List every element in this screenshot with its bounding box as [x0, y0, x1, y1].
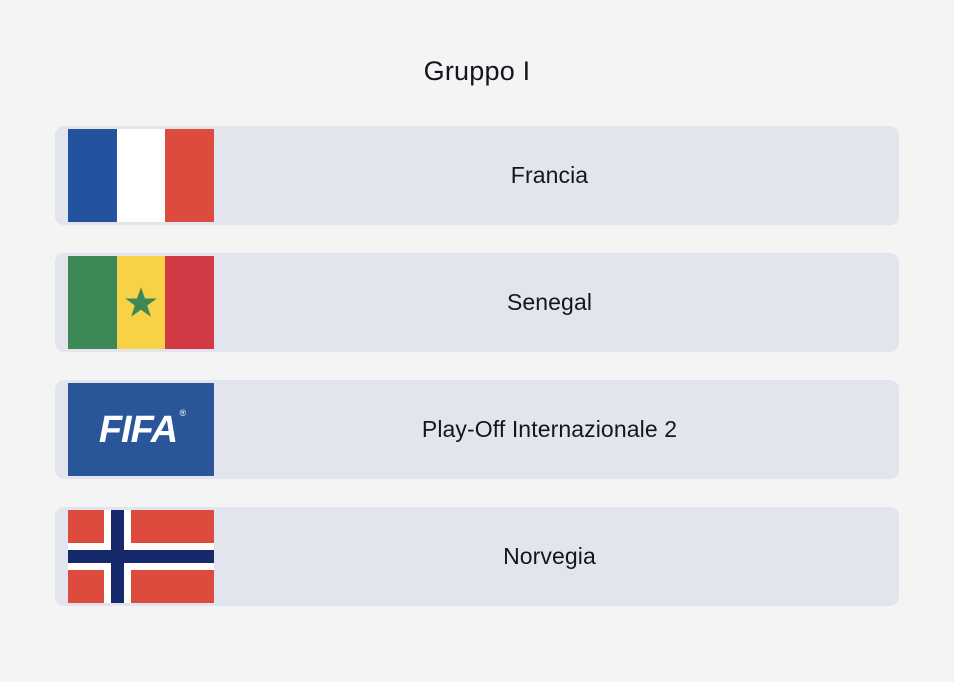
senegal-flag-icon: [68, 256, 214, 349]
fifa-wordmark-label: FIFA: [99, 409, 177, 451]
team-list: Francia Senegal FIFA: [55, 126, 899, 606]
flag-cross-navy-vertical: [111, 510, 124, 603]
team-name-label: Norvegia: [214, 507, 899, 606]
team-row[interactable]: FIFA ® Play-Off Internazionale 2: [55, 380, 899, 479]
team-row[interactable]: Francia: [55, 126, 899, 225]
flag-container: [68, 507, 214, 606]
team-name-label: Senegal: [214, 253, 899, 352]
fifa-logo-icon: FIFA ®: [68, 383, 214, 476]
flag-container: [68, 126, 214, 225]
flag-band-red: [165, 129, 214, 222]
registered-trademark-icon: ®: [180, 409, 186, 418]
france-flag-icon: [68, 129, 214, 222]
team-name-label: Francia: [214, 126, 899, 225]
flag-band-green: [68, 256, 117, 349]
flag-band-blue: [68, 129, 117, 222]
flag-cross-navy-horizontal: [68, 550, 214, 563]
flag-band-red: [165, 256, 214, 349]
page-title: Gruppo I: [0, 56, 954, 87]
flag-band-white: [117, 129, 166, 222]
team-name-label: Play-Off Internazionale 2: [214, 380, 899, 479]
group-standings-page: Gruppo I Francia: [0, 0, 954, 682]
norway-flag-icon: [68, 510, 214, 603]
fifa-wordmark-text: FIFA ®: [99, 411, 183, 449]
flag-container: FIFA ®: [68, 380, 214, 479]
team-row[interactable]: Norvegia: [55, 507, 899, 606]
team-row[interactable]: Senegal: [55, 253, 899, 352]
flag-container: [68, 253, 214, 352]
star-icon: [124, 286, 158, 320]
